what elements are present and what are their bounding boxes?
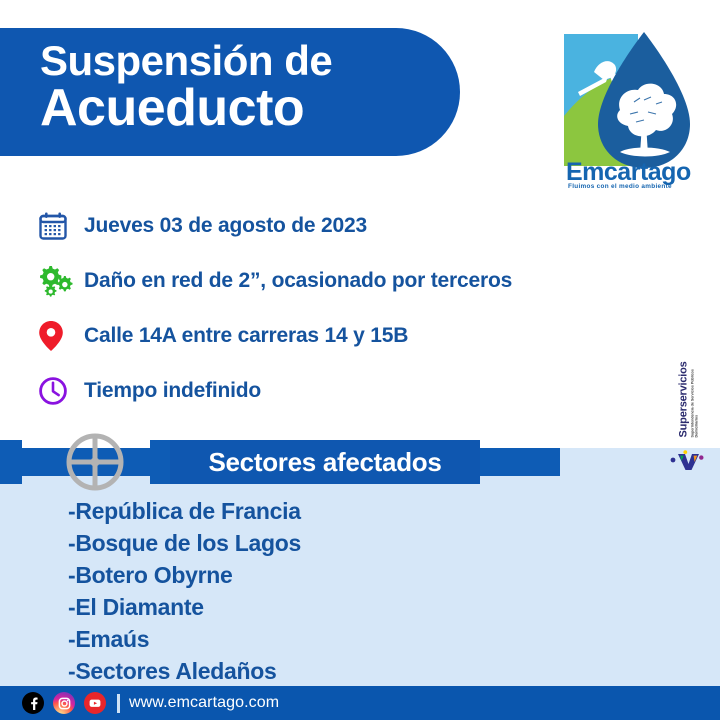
info-list: Jueves 03 de agosto de 2023 Daño en red … [38,198,698,418]
location-pin-icon [38,320,84,352]
info-row-duration: Tiempo indefinido [38,363,698,418]
info-text-date: Jueves 03 de agosto de 2023 [84,214,367,238]
website-url[interactable]: www.emcartago.com [129,694,279,712]
info-row-date: Jueves 03 de agosto de 2023 [38,198,698,253]
emcartago-logo: Emcartago Fluimos con el medio ambiente [548,28,704,190]
svg-text:Emcartago: Emcartago [566,158,691,186]
footer-divider [117,694,120,713]
list-item: -República de Francia [68,496,588,528]
superservicios-subtitle: Superintendencia de Servicios Públicos D… [691,351,700,437]
sectors-banner: Sectores afectados [170,440,480,484]
list-item: -Sectores Aledaños [68,656,588,688]
affected-sectors-list: -República de Francia -Bosque de los Lag… [68,496,588,688]
youtube-icon[interactable] [84,692,106,714]
page-title: Suspensión de Acueducto [40,40,460,134]
title-line-1: Suspensión de [40,40,460,81]
title-line-2: Acueducto [40,83,460,134]
sectors-banner-title: Sectores afectados [208,447,441,478]
instagram-icon[interactable] [53,692,75,714]
calendar-icon [38,211,84,241]
social-links [22,692,106,714]
poster-canvas: Suspensión de Acueducto [0,0,720,720]
info-text-duration: Tiempo indefinido [84,379,261,403]
superservicios-text: Superservicios Superintendencia de Servi… [679,351,700,437]
superservicios-mark-icon [668,450,708,472]
info-text-location: Calle 14A entre carreras 14 y 15B [84,324,408,348]
footer-bar: www.emcartago.com [0,686,720,720]
info-text-cause: Daño en red de 2”, ocasionado por tercer… [84,269,512,293]
logo-tagline: Fluimos con el medio ambiente [568,183,672,190]
info-row-cause: Daño en red de 2”, ocasionado por tercer… [38,253,698,308]
info-row-location: Calle 14A entre carreras 14 y 15B [38,308,698,363]
gears-icon [38,264,84,298]
clock-icon [38,376,84,406]
list-item: -Botero Obyrne [68,560,588,592]
superservicios-logo: Superservicios Superintendencia de Servi… [664,358,714,478]
superservicios-title: Superservicios [679,351,690,437]
list-item: -Emaús [68,624,588,656]
list-item: -El Diamante [68,592,588,624]
list-item: -Bosque de los Lagos [68,528,588,560]
facebook-icon[interactable] [22,692,44,714]
